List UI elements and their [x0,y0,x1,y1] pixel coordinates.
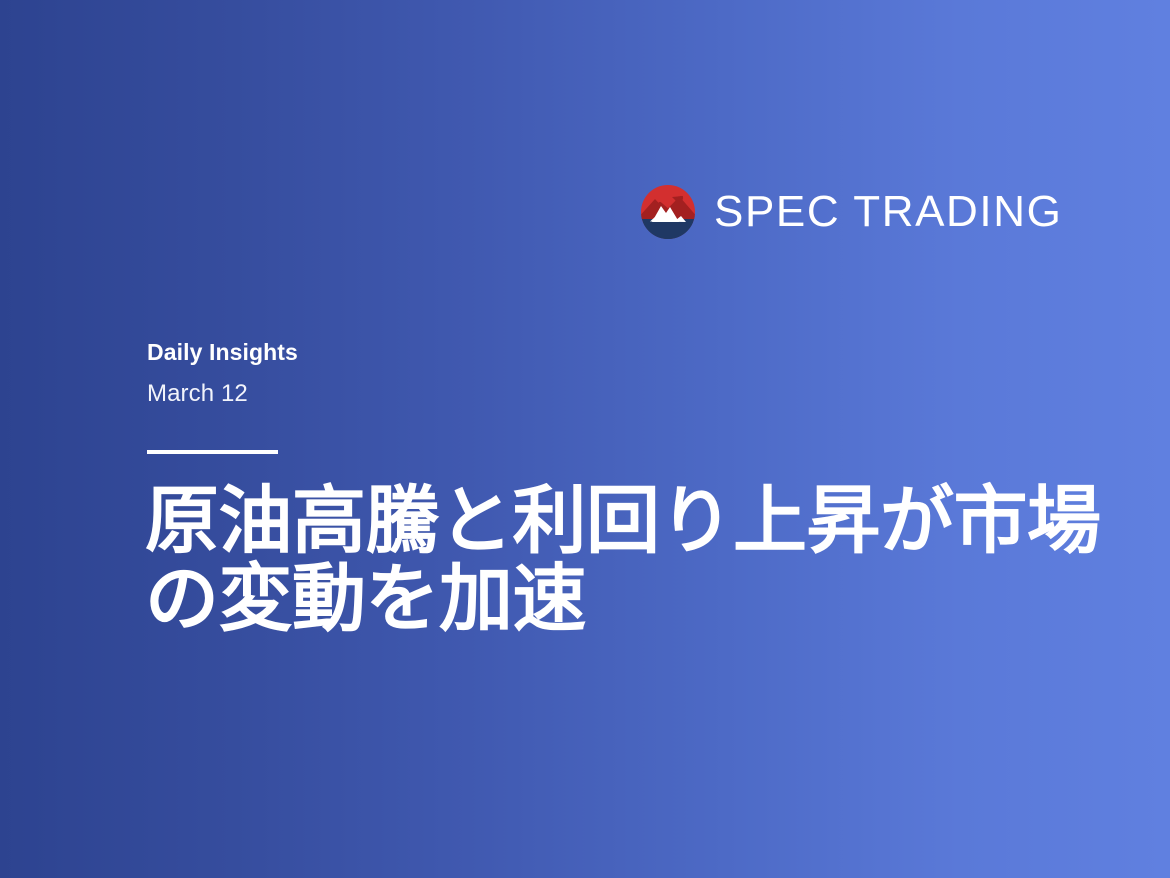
date-label: March 12 [147,379,907,409]
mountain-arrow-circle-icon [641,185,695,239]
kicker-label: Daily Insights [147,338,907,366]
slide-meta: Daily Insights March 12 [147,338,907,409]
title-slide: SPEC TRADING Daily Insights March 12 原油高… [0,0,1170,878]
page-title: 原油高騰と利回り上昇が市場の変動を加速 [145,482,1110,639]
brand-wordmark: SPEC TRADING [714,190,1062,234]
divider-rule [147,450,278,454]
brand-lockup: SPEC TRADING [641,185,1062,239]
